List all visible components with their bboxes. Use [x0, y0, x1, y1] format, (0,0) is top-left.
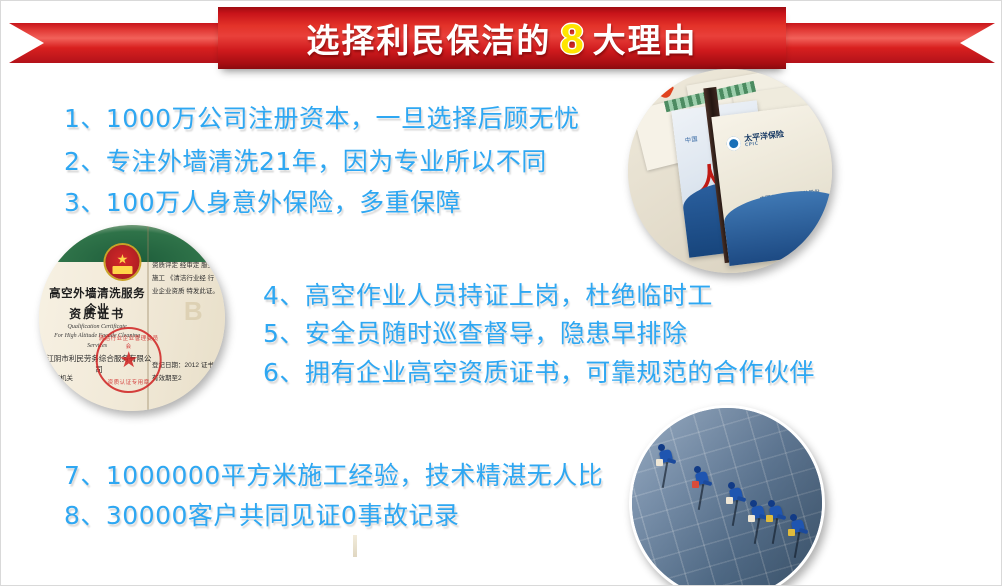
cpic-logo: 太平洋保险 CPIC	[726, 130, 785, 151]
banner-title-part2: 大理由	[593, 14, 698, 62]
worker-figure	[658, 444, 674, 466]
insurance-scene: 中国 人 太平洋保险 CPIC 中国太平洋财产保险股份 China Pacifi…	[628, 69, 832, 273]
reason-3-text: 100万人身意外保险，多重保障	[106, 188, 461, 217]
reason-5-text: 安全员随时巡查督导，隐患早排除	[305, 319, 688, 348]
reason-5-index: 5、	[263, 319, 305, 348]
seal-top-text: 清洁行业企业管理委员会	[98, 334, 160, 350]
reason-item-8: 8、30000客户共同见证0事故记录	[64, 496, 459, 532]
insurance-folder-wave	[722, 185, 832, 266]
worker-bucket	[766, 515, 773, 522]
worker-figure	[768, 500, 784, 522]
reason-item-5: 5、安全员随时巡查督导，隐患早排除	[263, 314, 687, 350]
banner-highlight-number: 8	[560, 18, 583, 60]
reason-item-1: 1、1000万公司注册资本，一旦选择后顾无忧	[64, 99, 580, 135]
banner-title-part1: 选择利民保洁的	[306, 14, 551, 62]
worker-figure	[728, 482, 744, 504]
reason-7-index: 7、	[64, 461, 106, 490]
reason-8-text: 30000客户共同见证0事故记录	[106, 501, 459, 530]
header-ribbon-banner: 选择利民保洁的 8 大理由	[1, 5, 1002, 71]
reason-item-7: 7、1000000平方米施工经验，技术精湛无人比	[64, 456, 603, 492]
reason-item-2: 2、专注外墙清洗21年，因为专业所以不同	[64, 142, 547, 178]
banner-title: 选择利民保洁的 8 大理由	[306, 14, 697, 62]
worker-bucket	[656, 459, 663, 466]
reason-1-index: 1、	[64, 104, 106, 133]
reason-4-index: 4、	[263, 281, 305, 310]
insurance-booklet-small-text: 中国	[684, 134, 698, 145]
cpic-logo-text: 太平洋保险 CPIC	[744, 131, 785, 149]
background-artifact	[353, 535, 357, 557]
photo-insurance-documents: 中国 人 太平洋保险 CPIC 中国太平洋财产保险股份 China Pacifi…	[628, 69, 832, 273]
worker-figure	[750, 500, 766, 522]
certificate-subtitle-cn: 资质证书	[45, 305, 149, 322]
certificate-red-seal: 清洁行业企业管理委员会 ★ 资质认证专用章	[96, 327, 162, 393]
certificate-issuer-label: 发证机关	[47, 373, 73, 385]
cpic-logo-mark-icon	[726, 136, 742, 152]
reason-8-index: 8、	[64, 501, 106, 530]
reason-2-text: 专注外墙清洗21年，因为专业所以不同	[106, 147, 547, 176]
reason-3-index: 3、	[64, 188, 106, 217]
reason-item-6: 6、拥有企业高空资质证书，可靠规范的合作伙伴	[263, 353, 815, 389]
worker-figure	[694, 466, 710, 488]
emblem-star-icon: ★	[117, 253, 129, 266]
reason-item-3: 3、100万人身意外保险，多重保障	[64, 183, 461, 219]
reason-6-index: 6、	[263, 358, 305, 387]
reason-2-index: 2、	[64, 147, 106, 176]
reason-6-text: 拥有企业高空资质证书，可靠规范的合作伙伴	[305, 358, 815, 387]
worker-bucket	[748, 515, 755, 522]
national-emblem-icon: ★	[105, 245, 139, 279]
certificate-watermark: B	[184, 296, 203, 327]
reason-item-4: 4、高空作业人员持证上岗，杜绝临时工	[263, 276, 713, 312]
reason-1-text: 1000万公司注册资本，一旦选择后顾无忧	[106, 104, 580, 133]
worker-bucket	[788, 529, 795, 536]
insurance-cpic-folder: 太平洋保险 CPIC 中国太平洋财产保险股份 China Pacific Pro…	[711, 102, 832, 266]
reason-4-text: 高空作业人员持证上岗，杜绝临时工	[305, 281, 713, 310]
worker-bucket	[692, 481, 699, 488]
photo-qualification-certificate: B ★ 高空外墙清洗服务企业 资质证书 Qualification Certif…	[39, 225, 225, 411]
seal-bottom-text: 资质认证专用章	[98, 378, 160, 386]
worker-figure	[790, 514, 806, 536]
seal-star-icon: ★	[119, 349, 139, 371]
certificate-right-column-2: 登记日期：2012 证书有效期至2	[152, 359, 219, 385]
emblem-gate-icon	[113, 266, 132, 274]
promotional-poster: 选择利民保洁的 8 大理由 1、1000万公司注册资本，一旦选择后顾无忧 2、专…	[0, 0, 1002, 586]
worker-bucket	[726, 497, 733, 504]
certificate-right-column-1: 资质评定 经审定 服务施工 《清洁行业经 行业企业资质 特发此证。	[152, 259, 219, 298]
photo-highrise-window-cleaners	[629, 405, 825, 586]
reason-7-text: 1000000平方米施工经验，技术精湛无人比	[106, 461, 603, 490]
banner-center-panel: 选择利民保洁的 8 大理由	[218, 7, 786, 69]
